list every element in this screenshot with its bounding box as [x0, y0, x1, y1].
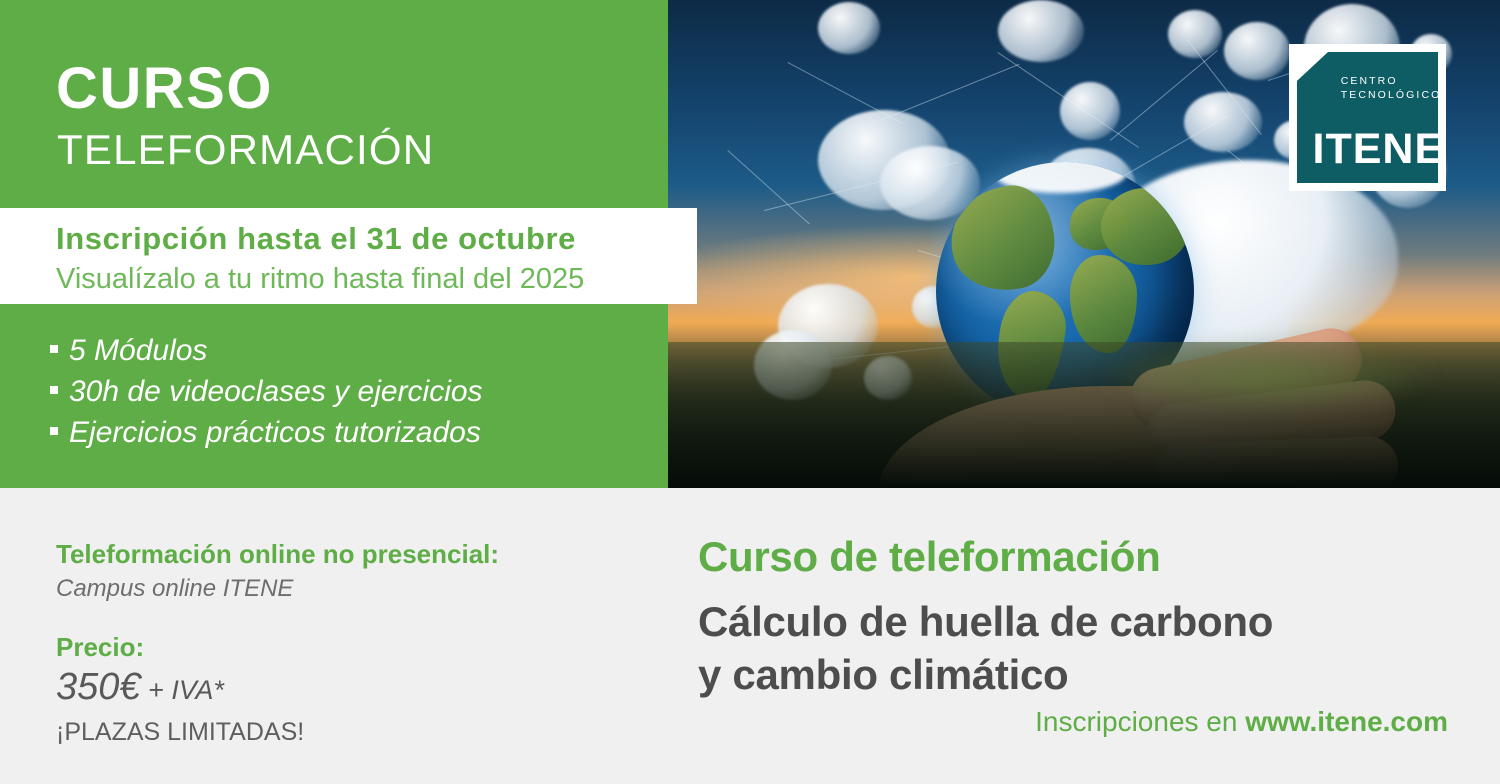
course-flyer: CO2 CURSO TELEFORMACIÓN 5 Módulos 30h de…: [0, 0, 1500, 784]
course-title-line1: Cálculo de huella de carbono: [698, 598, 1273, 645]
price-row: 350€ + IVA*: [56, 668, 224, 706]
signup-line: Inscripciones en www.itene.com: [1035, 708, 1448, 736]
signup-url[interactable]: www.itene.com: [1245, 706, 1448, 737]
price-tax: + IVA*: [141, 675, 224, 705]
deadline-headline: Inscripción hasta el 31 de octubre: [56, 223, 576, 254]
limited-seats-note: ¡PLAZAS LIMITADAS!: [56, 720, 304, 745]
modality-label: Teleformación online no presencial:: [56, 541, 499, 567]
itene-logo: CENTRO TECNOLÓGICO ITENE: [1289, 44, 1446, 191]
signup-prefix: Inscripciones en: [1035, 706, 1245, 737]
bullet-icon: [50, 386, 58, 394]
bullet-icon: [50, 427, 58, 435]
price-label: Precio:: [56, 634, 144, 660]
course-title-line2: y cambio climático: [698, 651, 1068, 698]
course-kicker: CURSO: [56, 60, 273, 118]
feature-label: 5 Módulos: [69, 330, 207, 371]
bottom-section: Teleformación online no presencial: Camp…: [0, 488, 1500, 784]
page-title: Cálculo de huella de carbonoy cambio cli…: [698, 595, 1273, 701]
landmass-asia: [1101, 188, 1189, 265]
bullet-icon: [50, 345, 58, 353]
top-section: CO2 CURSO TELEFORMACIÓN 5 Módulos 30h de…: [0, 0, 1500, 488]
price-amount: 350€: [56, 666, 141, 708]
list-item: Ejercicios prácticos tutorizados: [50, 412, 483, 453]
feature-label: Ejercicios prácticos tutorizados: [69, 412, 481, 453]
deadline-banner: Inscripción hasta el 31 de octubre Visua…: [0, 208, 697, 304]
modality-value: Campus online ITENE: [56, 577, 293, 601]
logo-shape: CENTRO TECNOLÓGICO ITENE: [1297, 52, 1438, 183]
list-item: 30h de videoclases y ejercicios: [50, 371, 483, 412]
logo-tagline: CENTRO TECNOLÓGICO: [1341, 74, 1442, 102]
feature-label: 30h de videoclases y ejercicios: [69, 371, 483, 412]
ground-green-patch: [1101, 342, 1434, 410]
course-type: Curso de teleformación: [698, 536, 1161, 578]
logo-wordmark: ITENE: [1313, 128, 1445, 171]
course-mode: TELEFORMACIÓN: [57, 129, 434, 171]
feature-list: 5 Módulos 30h de videoclases y ejercicio…: [50, 330, 483, 453]
list-item: 5 Módulos: [50, 330, 483, 371]
deadline-subtext: Visualízalo a tu ritmo hasta final del 2…: [56, 265, 584, 294]
